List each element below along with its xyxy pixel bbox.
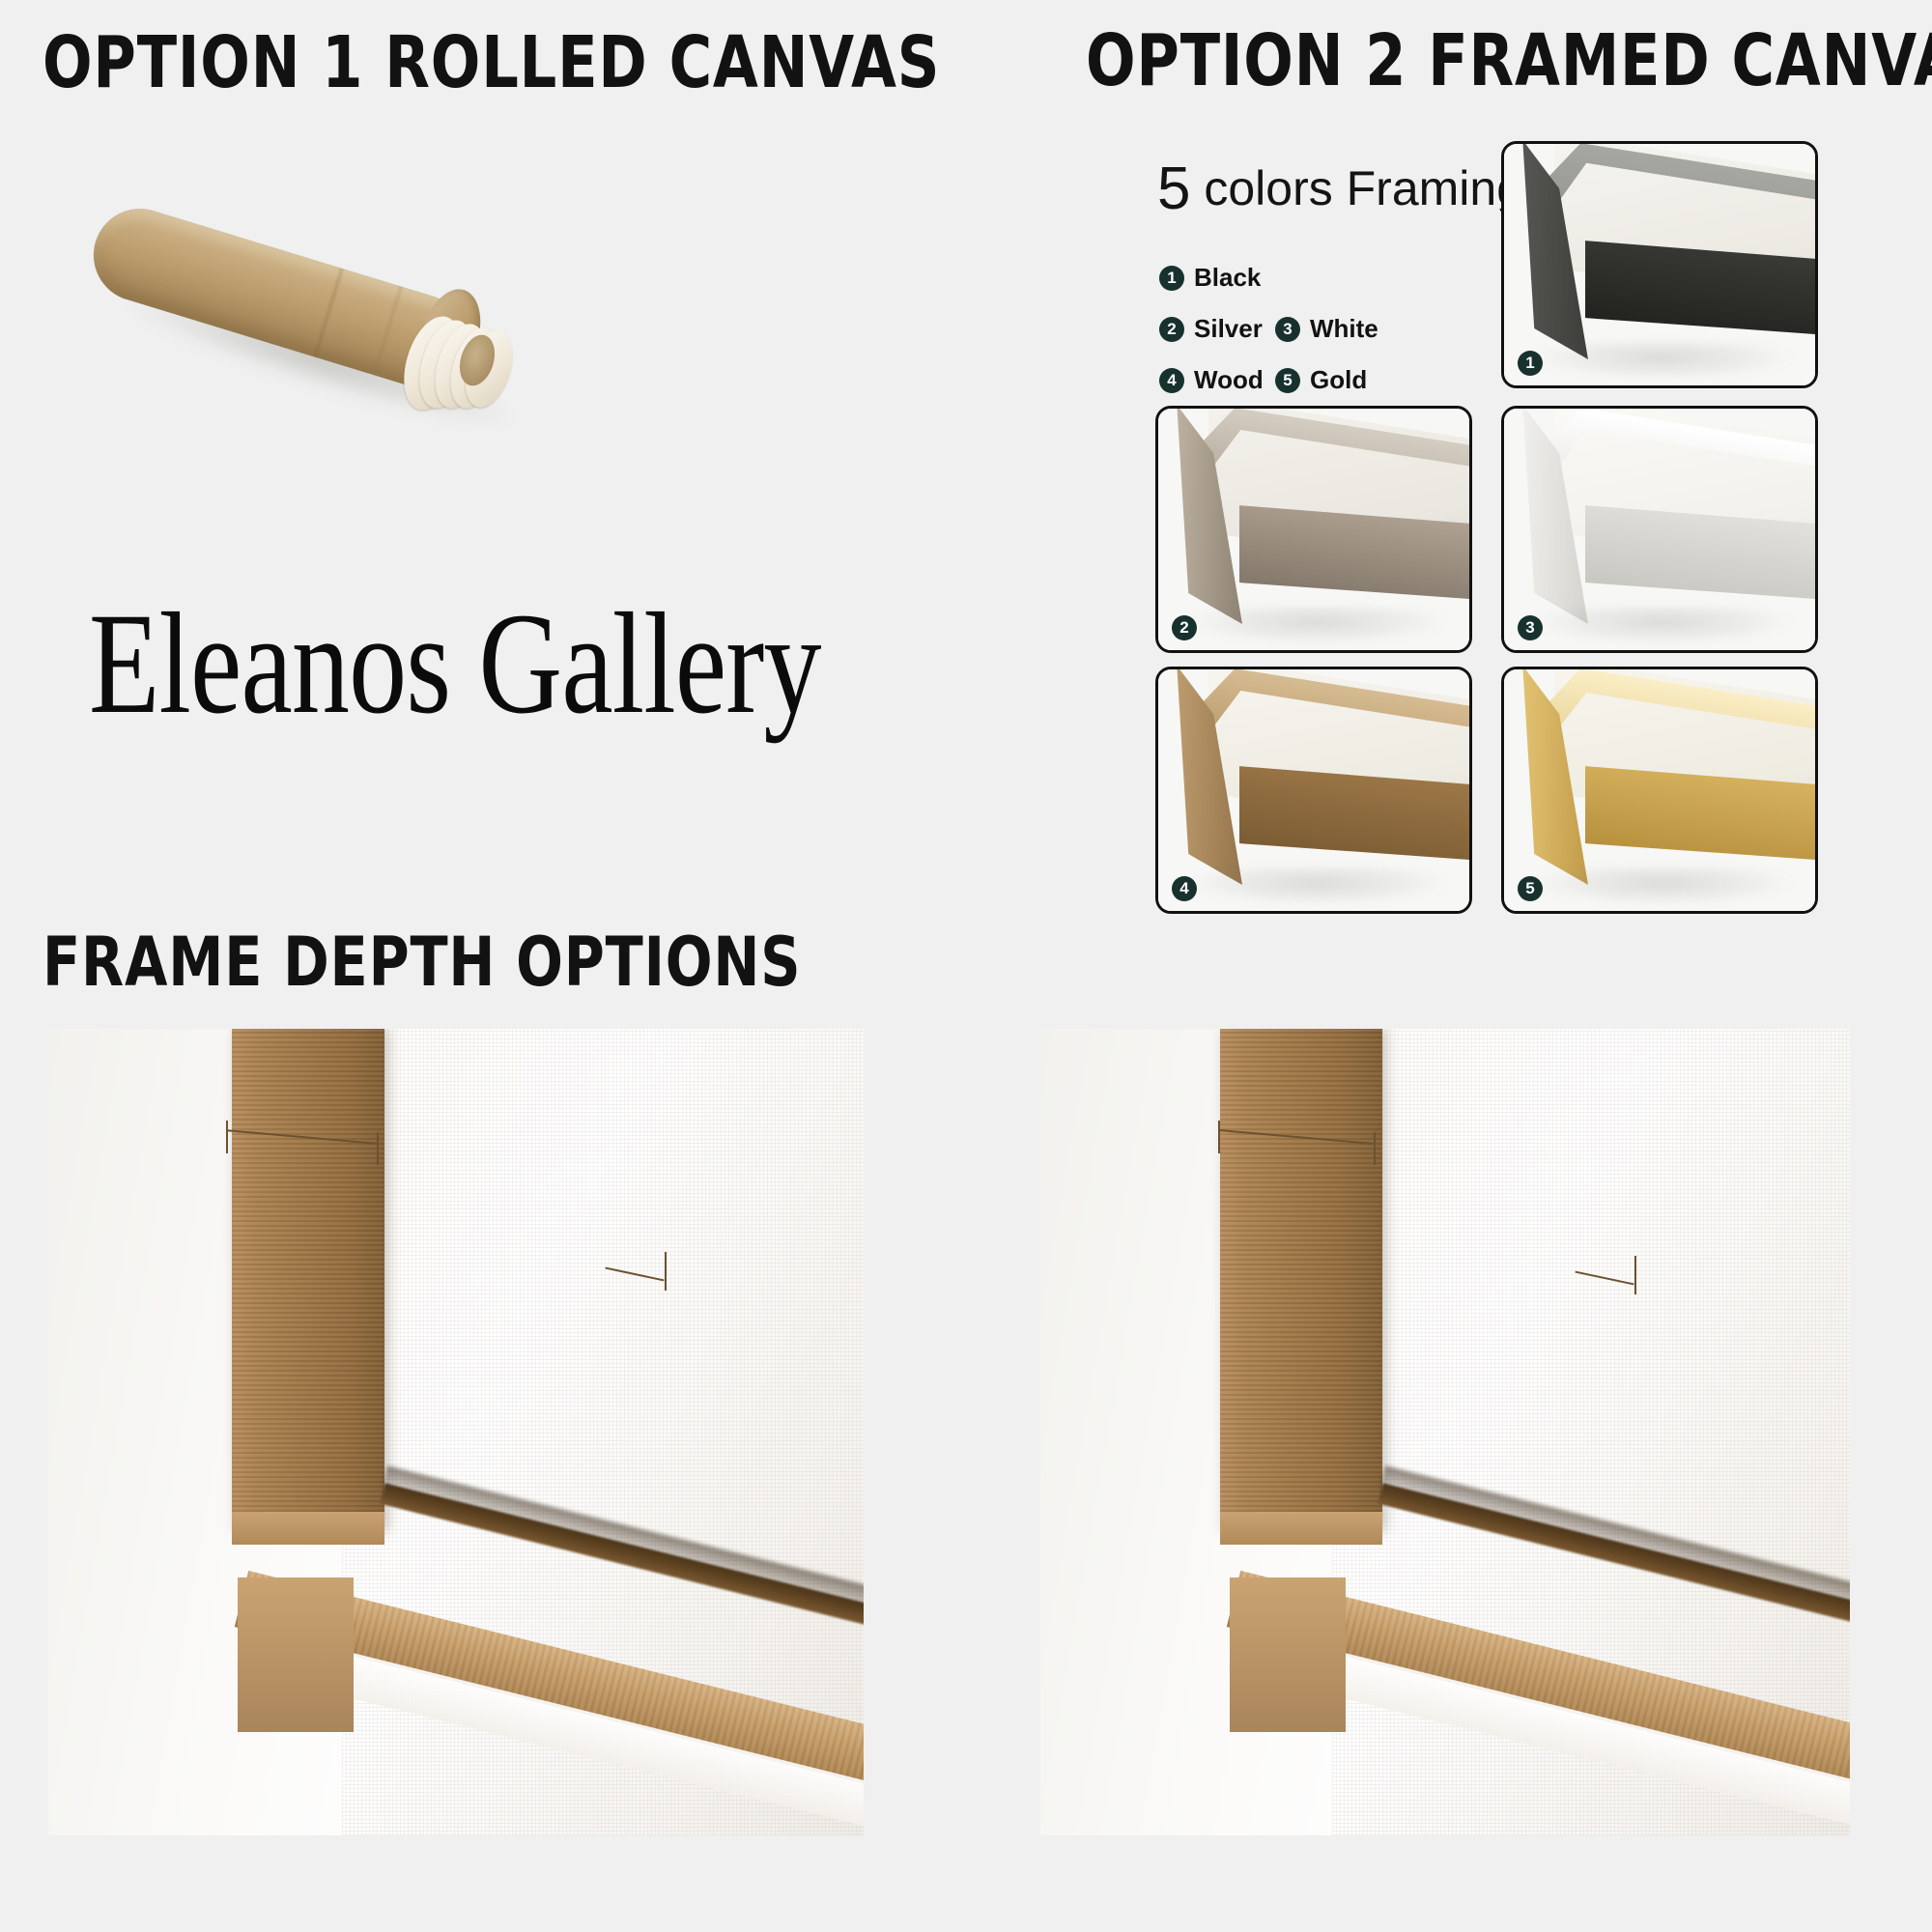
frame-corner-photo <box>1504 409 1815 650</box>
frame-drop-shadow <box>1529 607 1797 645</box>
frame-swatch-white[interactable]: 3 <box>1501 406 1818 653</box>
frame-swatch-black[interactable]: 1 <box>1501 141 1818 388</box>
frame-swatch-wood[interactable]: 4 <box>1155 667 1472 914</box>
framing-heading: 5 colors Framing <box>1157 155 1523 223</box>
legend-label-black: Black <box>1194 263 1261 293</box>
infographic-root: OPTION 1 ROLLED CANVAS Eleanos Gallery O… <box>0 0 1932 1932</box>
frame-depth-title: FRAME DEPTH OPTIONS <box>43 923 801 1002</box>
brand-logo: Eleanos Gallery <box>89 591 821 736</box>
frame-rail-foot <box>232 1512 384 1545</box>
framing-legend: 1 Black 2 Silver 3 White 4 Wood <box>1159 263 1391 416</box>
option2-title: OPTION 2 FRAMED CANVAS <box>1086 19 1932 102</box>
frame-swatch-silver[interactable]: 2 <box>1155 406 1472 653</box>
frame-corner-photo <box>1504 669 1815 911</box>
legend-item-black[interactable]: 1 Black <box>1159 263 1275 293</box>
framing-options: 5 colors Framing 1 Black 2 Silver 3 Whit… <box>1146 145 1909 869</box>
legend-badge-2: 2 <box>1159 317 1184 342</box>
frame-corner-photo <box>1158 409 1469 650</box>
frame-drop-shadow <box>1183 607 1451 645</box>
swatch-badge-5: 5 <box>1518 876 1543 901</box>
frame-rail-vertical <box>1220 1029 1382 1531</box>
legend-badge-3: 3 <box>1275 317 1300 342</box>
swatch-badge-3: 3 <box>1518 615 1543 640</box>
frame-rail-vertical <box>232 1029 384 1531</box>
swatch-badge-2: 2 <box>1172 615 1197 640</box>
framing-heading-text: colors Framing <box>1190 161 1523 215</box>
legend-badge-1: 1 <box>1159 266 1184 291</box>
legend-row: 2 Silver 3 White <box>1159 314 1391 344</box>
frame-rail-foot <box>1220 1512 1382 1545</box>
legend-badge-4: 4 <box>1159 368 1184 393</box>
frame-drop-shadow <box>1529 867 1797 906</box>
frame-drop-shadow <box>1183 867 1451 906</box>
diagonal-rail-corner <box>238 1577 354 1732</box>
legend-label-gold: Gold <box>1310 365 1367 395</box>
framing-heading-number: 5 <box>1157 156 1190 222</box>
legend-row: 1 Black <box>1159 263 1391 293</box>
legend-label-silver: Silver <box>1194 314 1263 344</box>
swatch-badge-4: 4 <box>1172 876 1197 901</box>
legend-row: 4 Wood 5 Gold <box>1159 365 1391 395</box>
option1-title: OPTION 1 ROLLED CANVAS <box>43 21 940 104</box>
diagonal-rail-corner <box>1230 1577 1346 1732</box>
legend-item-wood[interactable]: 4 Wood <box>1159 365 1275 395</box>
depth-photo-right[interactable]: 1.6 Inch (4.0 CM) 0.2 Inch (0.6 CM) <box>1040 1029 1850 1835</box>
depth-photo-left[interactable]: 1.4 Inch (3.5 CM) 0.2 Inch (0.6 CM) <box>48 1029 864 1835</box>
frame-corner-photo <box>1158 669 1469 911</box>
legend-item-white[interactable]: 3 White <box>1275 314 1391 344</box>
frame-swatch-gold[interactable]: 5 <box>1501 667 1818 914</box>
legend-badge-5: 5 <box>1275 368 1300 393</box>
swatch-badge-1: 1 <box>1518 351 1543 376</box>
frame-corner-photo <box>1504 144 1815 385</box>
legend-label-white: White <box>1310 314 1378 344</box>
frame-drop-shadow <box>1529 342 1797 381</box>
legend-label-wood: Wood <box>1194 365 1264 395</box>
legend-item-gold[interactable]: 5 Gold <box>1275 365 1391 395</box>
rolled-canvas-illustration <box>82 145 584 435</box>
legend-item-silver[interactable]: 2 Silver <box>1159 314 1275 344</box>
